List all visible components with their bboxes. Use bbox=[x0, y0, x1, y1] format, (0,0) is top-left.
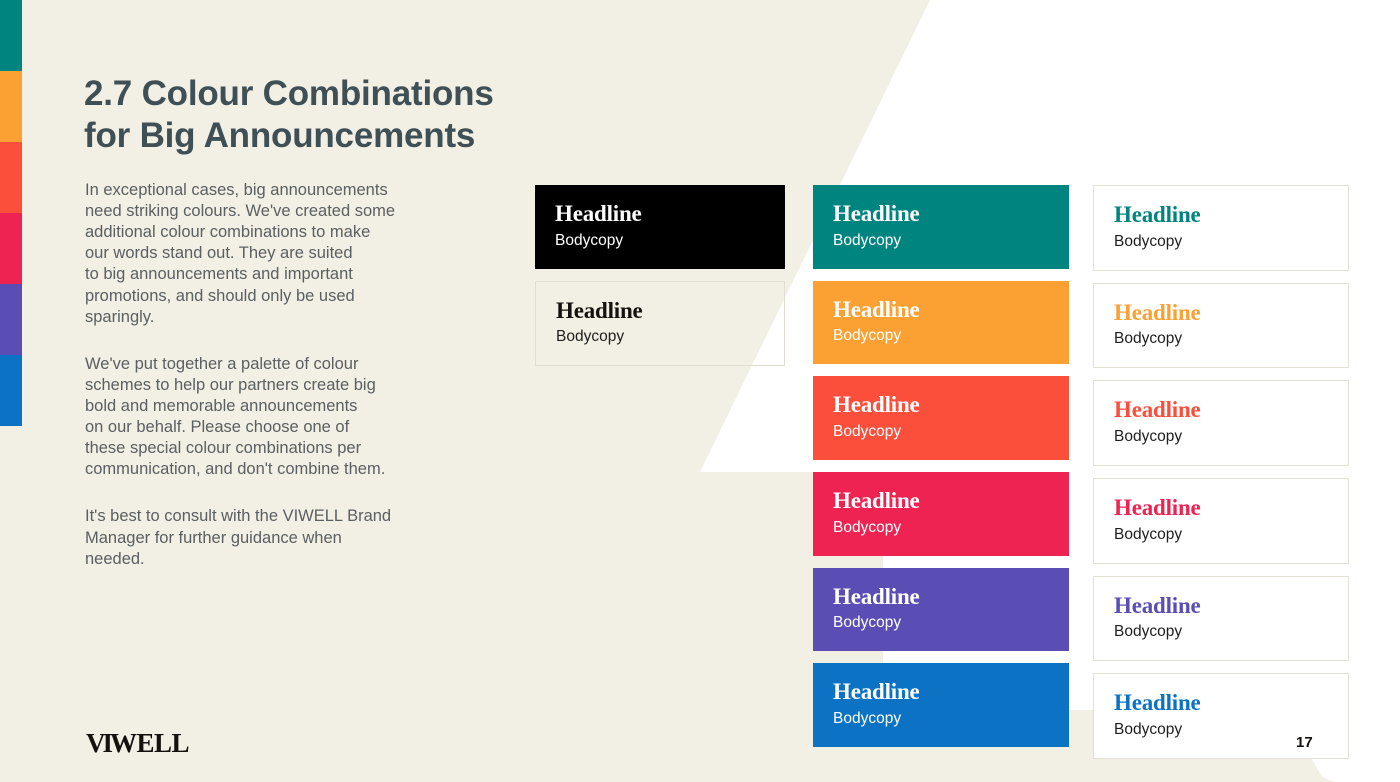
paragraph: In exceptional cases, big announcements … bbox=[85, 180, 470, 328]
column-solid-colour: HeadlineBodycopyHeadlineBodycopyHeadline… bbox=[813, 185, 1069, 759]
column-neutral: HeadlineBodycopyHeadlineBodycopy bbox=[535, 185, 785, 378]
card-headline: Headline bbox=[1114, 203, 1328, 228]
column-white-with-colour-headline: HeadlineBodycopyHeadlineBodycopyHeadline… bbox=[1093, 185, 1349, 771]
card-headline: Headline bbox=[1114, 691, 1328, 716]
band-pink bbox=[0, 213, 22, 284]
card-bodycopy: Bodycopy bbox=[555, 232, 765, 250]
card-headline: Headline bbox=[1114, 398, 1328, 423]
card-headline: Headline bbox=[833, 680, 1049, 705]
card-white-pink[interactable]: HeadlineBodycopy bbox=[1093, 478, 1349, 564]
body-copy: In exceptional cases, big announcements … bbox=[85, 180, 470, 570]
card-white-orange[interactable]: HeadlineBodycopy bbox=[1093, 283, 1349, 369]
card-bodycopy: Bodycopy bbox=[833, 423, 1049, 441]
card-bodycopy: Bodycopy bbox=[833, 614, 1049, 632]
card-bodycopy: Bodycopy bbox=[833, 519, 1049, 537]
band-blue bbox=[0, 355, 22, 426]
band-teal bbox=[0, 0, 22, 71]
edge-colour-strip bbox=[0, 0, 22, 426]
card-headline: Headline bbox=[833, 202, 1049, 227]
card-headline: Headline bbox=[555, 202, 765, 227]
paragraph: It's best to consult with the VIWELL Bra… bbox=[85, 506, 470, 569]
card-coral[interactable]: HeadlineBodycopy bbox=[813, 376, 1069, 460]
card-bodycopy: Bodycopy bbox=[1114, 233, 1328, 251]
card-bodycopy: Bodycopy bbox=[556, 328, 764, 346]
card-white-coral[interactable]: HeadlineBodycopy bbox=[1093, 380, 1349, 466]
card-teal[interactable]: HeadlineBodycopy bbox=[813, 185, 1069, 269]
paragraph: We've put together a palette of colour s… bbox=[85, 354, 470, 481]
card-bodycopy: Bodycopy bbox=[1114, 428, 1328, 446]
card-headline: Headline bbox=[833, 393, 1049, 418]
slide: 2.7 Colour Combinations for Big Announce… bbox=[0, 0, 1400, 782]
card-white-teal[interactable]: HeadlineBodycopy bbox=[1093, 185, 1349, 271]
card-headline: Headline bbox=[1114, 594, 1328, 619]
card-light[interactable]: HeadlineBodycopy bbox=[535, 281, 785, 367]
viwell-logo: VIWELL bbox=[86, 728, 189, 759]
card-headline: Headline bbox=[833, 489, 1049, 514]
logo-lead: VI bbox=[86, 728, 110, 758]
card-headline: Headline bbox=[833, 585, 1049, 610]
card-headline: Headline bbox=[556, 299, 764, 324]
band-coral bbox=[0, 142, 22, 213]
card-bodycopy: Bodycopy bbox=[833, 327, 1049, 345]
card-bodycopy: Bodycopy bbox=[1114, 526, 1328, 544]
card-orange[interactable]: HeadlineBodycopy bbox=[813, 281, 1069, 365]
card-blue[interactable]: HeadlineBodycopy bbox=[813, 663, 1069, 747]
page-number: 17 bbox=[1296, 734, 1313, 751]
card-purple[interactable]: HeadlineBodycopy bbox=[813, 568, 1069, 652]
card-white-purple[interactable]: HeadlineBodycopy bbox=[1093, 576, 1349, 662]
card-bodycopy: Bodycopy bbox=[833, 710, 1049, 728]
card-bodycopy: Bodycopy bbox=[833, 232, 1049, 250]
card-pink[interactable]: HeadlineBodycopy bbox=[813, 472, 1069, 556]
card-black[interactable]: HeadlineBodycopy bbox=[535, 185, 785, 269]
band-purple bbox=[0, 284, 22, 355]
card-bodycopy: Bodycopy bbox=[1114, 330, 1328, 348]
page-title: 2.7 Colour Combinations for Big Announce… bbox=[84, 73, 494, 156]
card-headline: Headline bbox=[833, 298, 1049, 323]
card-headline: Headline bbox=[1114, 496, 1328, 521]
band-orange bbox=[0, 71, 22, 142]
card-headline: Headline bbox=[1114, 301, 1328, 326]
card-bodycopy: Bodycopy bbox=[1114, 623, 1328, 641]
logo-tail: WELL bbox=[110, 728, 189, 758]
